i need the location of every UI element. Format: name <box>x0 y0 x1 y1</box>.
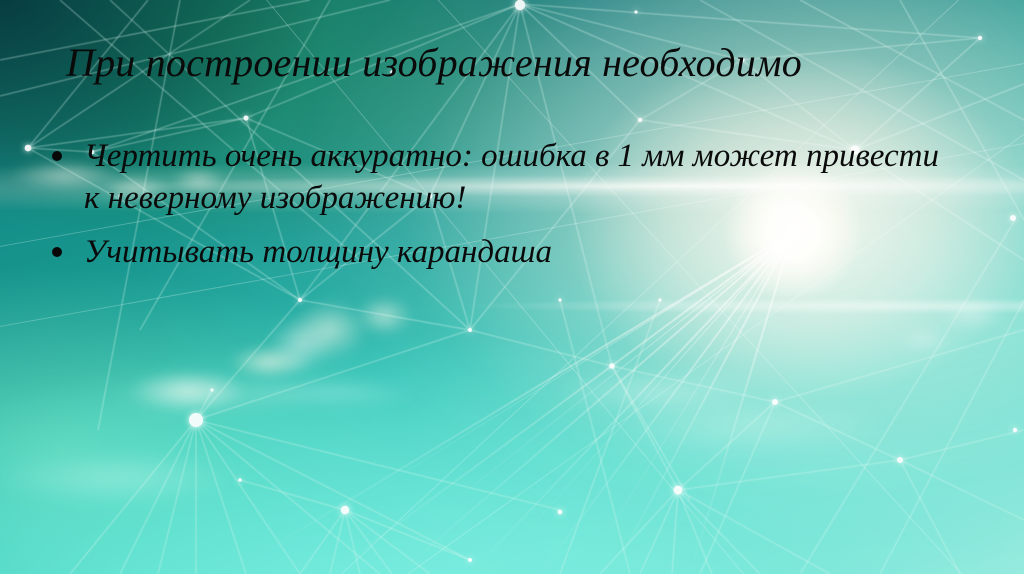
slide-title: При построении изображения необходимо <box>66 42 966 84</box>
presentation-slide: При построении изображения необходимо Че… <box>0 0 1024 574</box>
slide-content: При построении изображения необходимо Че… <box>0 0 1024 574</box>
bullet-text: Учитывать толщину карандаша <box>84 231 954 273</box>
bullet-marker-icon <box>52 231 84 257</box>
list-item: Чертить очень аккуратно: ошибка в 1 мм м… <box>52 135 982 219</box>
bullet-marker-icon <box>52 135 84 161</box>
list-item: Учитывать толщину карандаша <box>52 231 982 273</box>
bullet-text: Чертить очень аккуратно: ошибка в 1 мм м… <box>84 135 954 219</box>
bullet-list: Чертить очень аккуратно: ошибка в 1 мм м… <box>52 135 982 286</box>
